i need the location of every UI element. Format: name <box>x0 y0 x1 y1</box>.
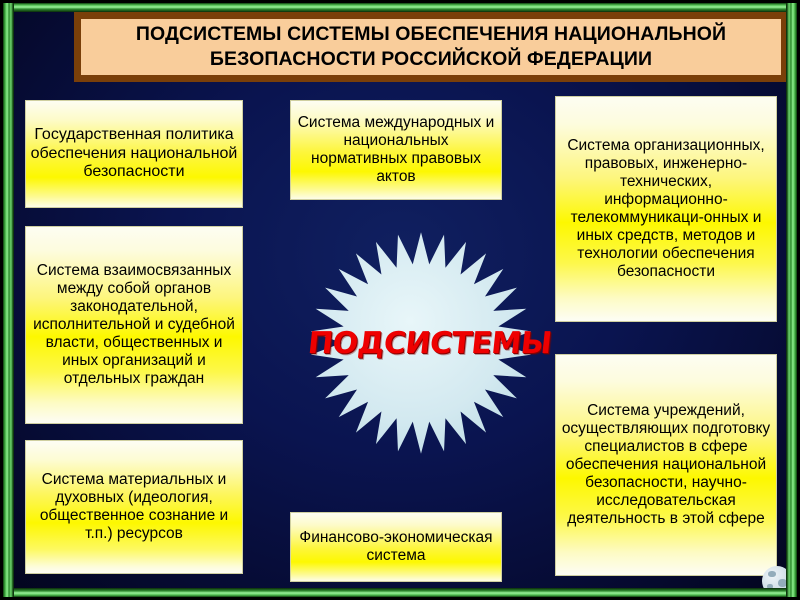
globe-icon <box>762 566 786 588</box>
box-interconnected-bodies-label: Система взаимосвязанных между собой орга… <box>26 260 242 390</box>
box-interconnected-bodies[interactable]: Система взаимосвязанных между собой орга… <box>25 226 243 424</box>
slide-title-banner: ПОДСИСТЕМЫ СИСТЕМЫ ОБЕСПЕЧЕНИЯ НАЦИОНАЛЬ… <box>74 12 786 82</box>
box-financial-economic-system[interactable]: Финансово-экономическая система <box>290 512 502 582</box>
frame-border-top <box>3 3 797 12</box>
box-organizational-legal-technical-means-label: Система организационных, правовых, инжен… <box>556 135 776 283</box>
globe-spot-a <box>768 571 776 577</box>
box-material-spiritual-resources[interactable]: Система материальных и духовных (идеолог… <box>25 440 243 574</box>
box-material-spiritual-resources-label: Система материальных и духовных (идеолог… <box>26 469 242 545</box>
box-legal-acts[interactable]: Система международных и национальных нор… <box>290 100 502 200</box>
globe-spot-b <box>778 579 786 587</box>
box-training-institutions-label: Система учреждений, осуществляющих подго… <box>556 400 776 530</box>
frame-border-bottom <box>3 588 797 597</box>
box-training-institutions[interactable]: Система учреждений, осуществляющих подго… <box>555 354 777 576</box>
slide-root: ПОДСИСТЕМЫ СИСТЕМЫ ОБЕСПЕЧЕНИЯ НАЦИОНАЛЬ… <box>0 0 800 600</box>
slide-canvas: ПОДСИСТЕМЫ СИСТЕМЫ ОБЕСПЕЧЕНИЯ НАЦИОНАЛЬ… <box>14 12 786 588</box>
globe-spot-c <box>767 584 773 588</box>
box-legal-acts-label: Система международных и национальных нор… <box>291 112 501 188</box>
box-organizational-legal-technical-means[interactable]: Система организационных, правовых, инжен… <box>555 96 777 322</box>
frame-border-left <box>3 3 14 597</box>
box-state-policy-label: Государственная политика обеспечения нац… <box>26 124 242 184</box>
box-state-policy[interactable]: Государственная политика обеспечения нац… <box>25 100 243 208</box>
slide-title: ПОДСИСТЕМЫ СИСТЕМЫ ОБЕСПЕЧЕНИЯ НАЦИОНАЛЬ… <box>81 22 781 72</box>
frame-border-right <box>786 3 797 597</box>
box-financial-economic-system-label: Финансово-экономическая система <box>291 527 501 567</box>
starburst-icon: ПОДСИСТЕМЫ <box>308 230 534 456</box>
